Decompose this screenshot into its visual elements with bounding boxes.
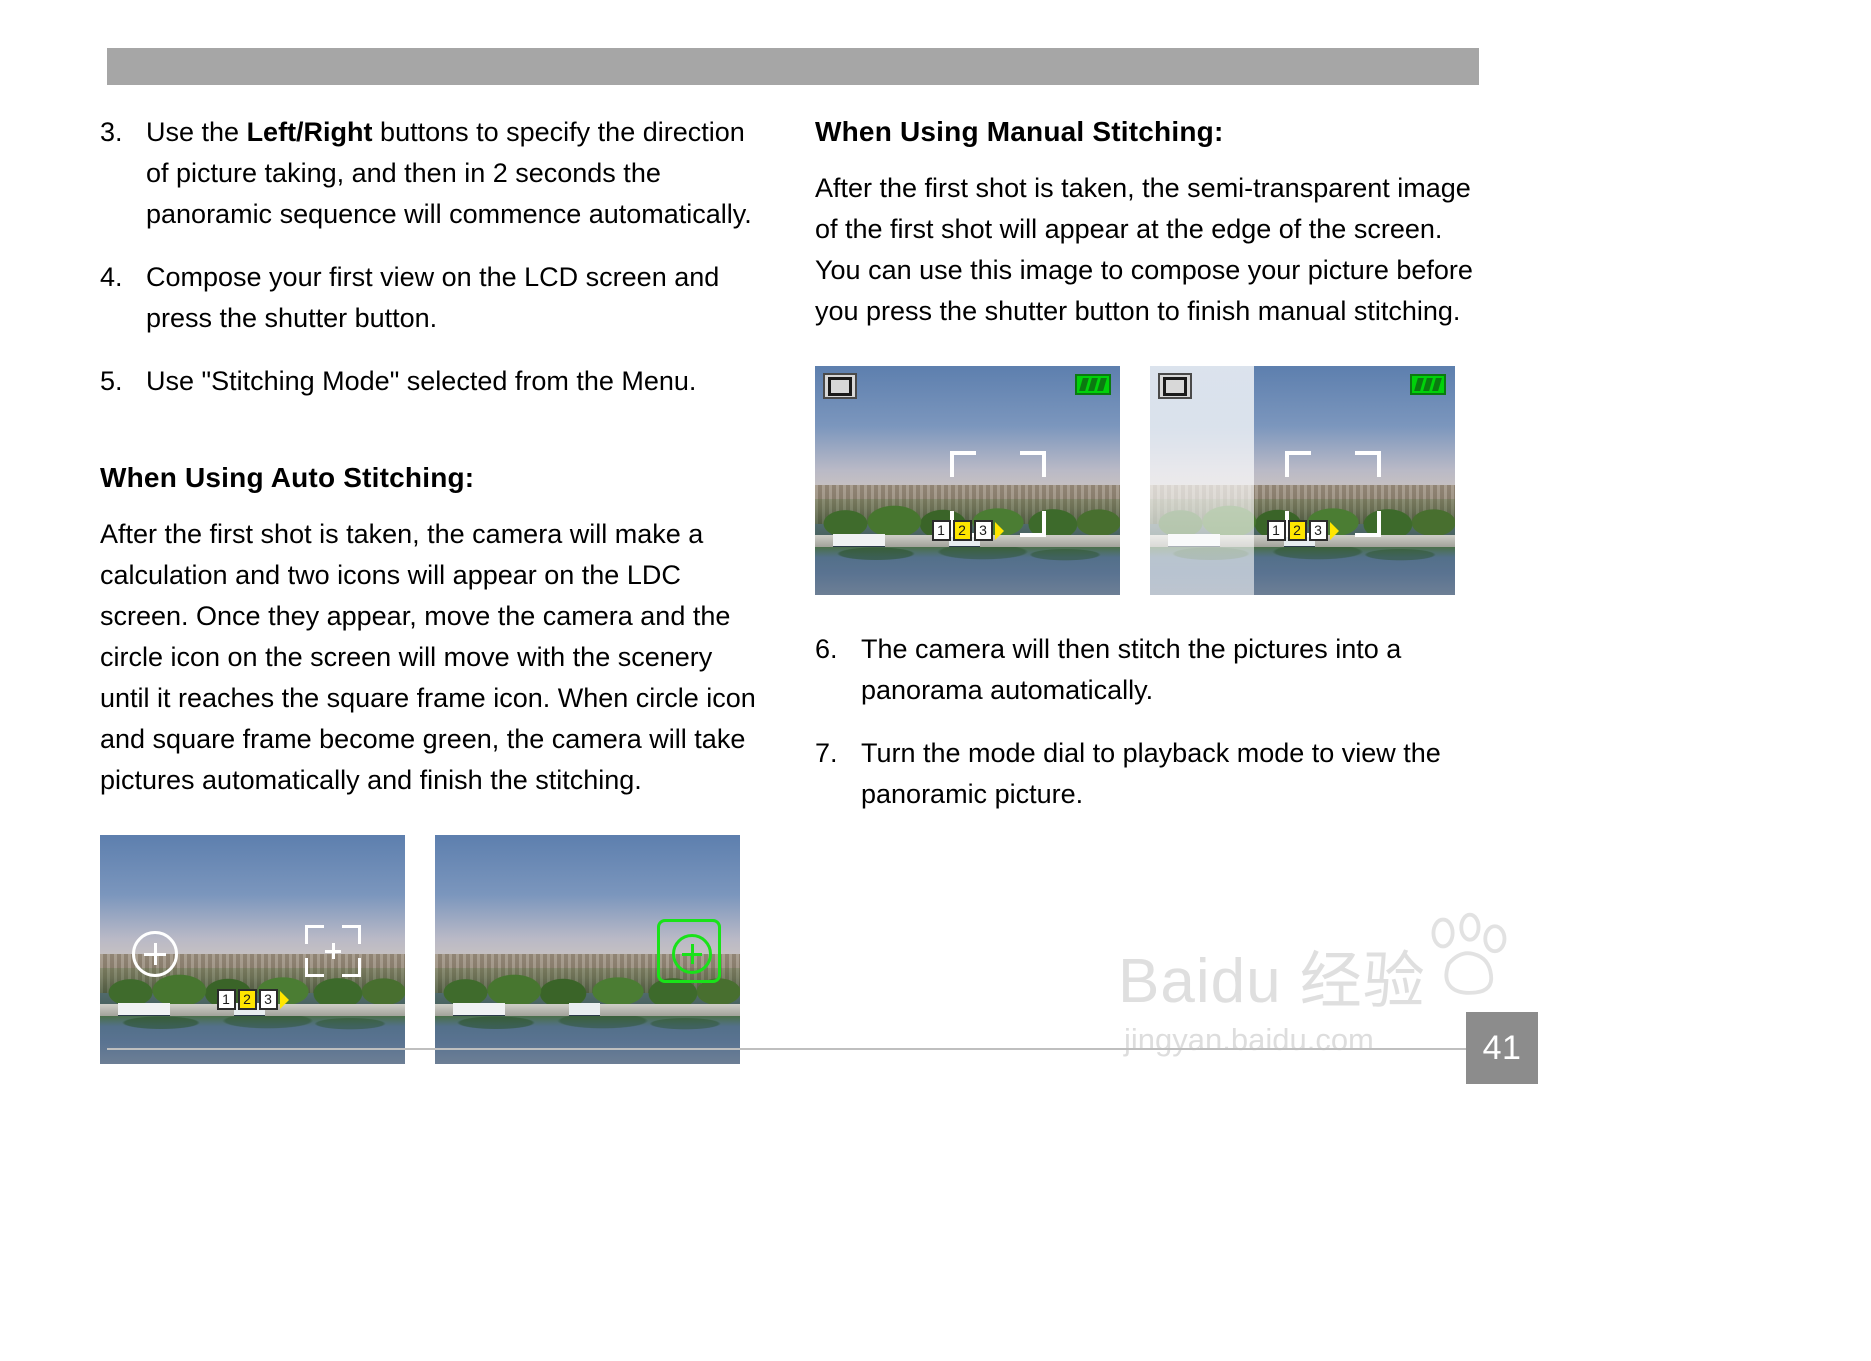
sequence-arrow-icon (1330, 522, 1339, 540)
auto-stitching-paragraph: After the first shot is taken, the camer… (100, 514, 768, 801)
list-item: 6. The camera will then stitch the pictu… (815, 629, 1480, 711)
list-item: 4. Compose your first view on the LCD sc… (100, 257, 768, 339)
sequence-arrow-icon (280, 991, 289, 1009)
spacer (100, 424, 768, 458)
list-item-number: 7. (815, 733, 861, 815)
manual-stitching-paragraph: After the first shot is taken, the semi-… (815, 168, 1480, 332)
scene-water (815, 547, 1120, 595)
sequence-step-2: 2 (238, 989, 257, 1010)
square-frame-icon (305, 925, 361, 977)
sequence-indicator: 1 2 3 (932, 520, 1004, 541)
lcd-screenshot-manual-first: 1 2 3 (815, 366, 1120, 595)
list-item-text: The camera will then stitch the pictures… (861, 629, 1480, 711)
baidu-paw-icon (1416, 908, 1520, 1004)
sequence-step-3: 3 (974, 520, 993, 541)
lcd-screenshot-auto-locked (435, 835, 740, 1064)
battery-icon (1075, 374, 1111, 395)
auto-stitching-heading: When Using Auto Stitching: (100, 458, 768, 498)
list-item-text: Use the Left/Right buttons to specify th… (146, 112, 768, 235)
spacer (815, 595, 1480, 629)
scene-boat (833, 534, 885, 547)
baidu-watermark-sub: jingyan.baidu.com (1124, 1022, 1374, 1058)
sequence-step-3: 3 (1309, 520, 1328, 541)
sequence-indicator: 1 2 3 (1267, 520, 1339, 541)
scene-boat (118, 1003, 170, 1016)
spacer (815, 350, 1480, 366)
lcd-screenshot-manual-semitransparent: 1 2 3 (1150, 366, 1455, 595)
panorama-mode-icon (1158, 373, 1192, 399)
list-item-text: Compose your first view on the LCD scree… (146, 257, 768, 339)
scene-boat (1168, 534, 1220, 547)
list-item-number: 3. (100, 112, 146, 235)
footer-rule (107, 1048, 1479, 1050)
lcd-screenshot-auto-before: 1 2 3 (100, 835, 405, 1064)
right-column: When Using Manual Stitching: After the f… (815, 112, 1480, 837)
scene-boat (453, 1003, 505, 1016)
sequence-arrow-icon (995, 522, 1004, 540)
list-item-number: 5. (100, 361, 146, 402)
scene-water (435, 1016, 740, 1064)
scene-water (1150, 547, 1455, 595)
list-item: 5. Use "Stitching Mode" selected from th… (100, 361, 768, 402)
manual-stitching-figures: 1 2 3 (815, 366, 1480, 595)
list-item-text: Turn the mode dial to playback mode to v… (861, 733, 1480, 815)
battery-icon (1410, 374, 1446, 395)
green-locked-target-icon (657, 919, 721, 983)
sequence-step-2: 2 (953, 520, 972, 541)
list-item-text: Use "Stitching Mode" selected from the M… (146, 361, 768, 402)
list-item: 3. Use the Left/Right buttons to specify… (100, 112, 768, 235)
step3-text-before: Use the (146, 117, 247, 147)
header-bar (107, 48, 1479, 85)
left-column: 3. Use the Left/Right buttons to specify… (100, 112, 768, 1064)
sequence-step-1: 1 (1267, 520, 1286, 541)
scene-boat (569, 1003, 600, 1016)
sequence-step-1: 1 (217, 989, 236, 1010)
page-number: 41 (1466, 1012, 1538, 1084)
circle-target-icon (132, 931, 178, 977)
list-item-number: 6. (815, 629, 861, 711)
spacer (100, 819, 768, 835)
sequence-indicator: 1 2 3 (217, 989, 289, 1010)
list-item: 7. Turn the mode dial to playback mode t… (815, 733, 1480, 815)
sequence-step-2: 2 (1288, 520, 1307, 541)
panorama-mode-icon (823, 373, 857, 399)
list-item-number: 4. (100, 257, 146, 339)
manual-page: 3. Use the Left/Right buttons to specify… (0, 0, 1871, 1361)
step3-bold-term: Left/Right (247, 117, 373, 147)
baidu-watermark-main: Baidu 经验 (1118, 930, 1426, 1020)
sequence-step-1: 1 (932, 520, 951, 541)
sequence-step-3: 3 (259, 989, 278, 1010)
auto-stitching-figures: 1 2 3 (100, 835, 768, 1064)
scene-water (100, 1016, 405, 1064)
manual-stitching-heading: When Using Manual Stitching: (815, 112, 1480, 152)
